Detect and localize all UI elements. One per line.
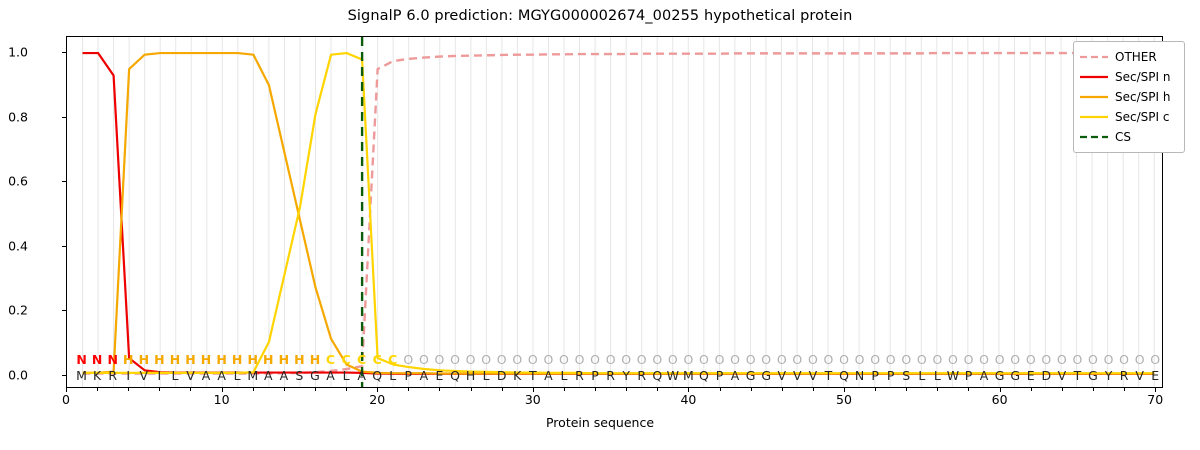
x-tick-label: 30 [503, 392, 563, 407]
sequence-letter: E [1143, 368, 1167, 384]
legend-swatch-icon [1080, 131, 1108, 143]
x-tick-mark-minor [1031, 388, 1032, 391]
x-tick-label: 70 [1125, 392, 1185, 407]
x-tick-mark-minor [97, 388, 98, 391]
x-tick-mark-minor [813, 388, 814, 391]
x-tick-mark-minor [906, 388, 907, 391]
legend-label: Sec/SPI c [1115, 110, 1169, 124]
plot-area [66, 36, 1163, 388]
cleavage-site-line [67, 37, 1162, 387]
legend-label: CS [1115, 130, 1131, 144]
x-tick-mark-minor [1062, 388, 1063, 391]
legend-swatch-icon [1080, 51, 1108, 63]
x-tick-mark-minor [626, 388, 627, 391]
legend-label: Sec/SPI n [1115, 70, 1170, 84]
legend-item-sec-spi-n[interactable]: Sec/SPI n [1080, 67, 1178, 87]
y-tick-label: 0.4 [0, 238, 28, 253]
x-tick-mark [688, 388, 689, 392]
x-tick-mark-minor [564, 388, 565, 391]
x-tick-mark-minor [751, 388, 752, 391]
x-tick-mark-minor [875, 388, 876, 391]
x-tick-mark [222, 388, 223, 392]
annotation-row: NNNHHHHHHHHHHHHHCCCCCOOOOOOOOOOOOOOOOOOO… [66, 352, 1163, 368]
x-tick-mark-minor [128, 388, 129, 391]
x-tick-label: 60 [970, 392, 1030, 407]
legend-item-other[interactable]: OTHER [1080, 47, 1178, 67]
legend-item-sec-spi-h[interactable]: Sec/SPI h [1080, 87, 1178, 107]
x-tick-mark-minor [471, 388, 472, 391]
x-tick-mark-minor [315, 388, 316, 391]
x-tick-mark [1000, 388, 1001, 392]
x-tick-mark-minor [190, 388, 191, 391]
x-tick-label: 10 [192, 392, 252, 407]
legend-swatch-icon [1080, 71, 1108, 83]
x-tick-mark-minor [657, 388, 658, 391]
x-tick-mark-minor [253, 388, 254, 391]
x-tick-mark-minor [284, 388, 285, 391]
x-tick-label: 0 [36, 392, 96, 407]
y-tick-label: 0.6 [0, 174, 28, 189]
x-tick-mark-minor [1093, 388, 1094, 391]
sequence-row: MKRIVILVAALMAASGALAQLPAEQHLDKTALRPRYRQWM… [66, 368, 1163, 384]
x-tick-mark-minor [1124, 388, 1125, 391]
x-tick-mark-minor [408, 388, 409, 391]
legend-swatch-icon [1080, 111, 1108, 123]
x-tick-mark [533, 388, 534, 392]
x-tick-mark-minor [937, 388, 938, 391]
legend-item-cs[interactable]: CS [1080, 127, 1178, 147]
x-axis-label: Protein sequence [0, 415, 1200, 430]
legend-swatch-icon [1080, 91, 1108, 103]
y-tick-label: 0.2 [0, 303, 28, 318]
x-tick-mark-minor [439, 388, 440, 391]
x-tick-label: 50 [814, 392, 874, 407]
x-tick-mark-minor [502, 388, 503, 391]
x-tick-mark [844, 388, 845, 392]
x-tick-mark-minor [159, 388, 160, 391]
legend-label: Sec/SPI h [1115, 90, 1170, 104]
legend-label: OTHER [1115, 50, 1157, 64]
x-tick-label: 40 [658, 392, 718, 407]
y-tick-label: 0.8 [0, 109, 28, 124]
signalp-prediction-figure: SignalP 6.0 prediction: MGYG000002674_00… [0, 0, 1200, 450]
chart-title: SignalP 6.0 prediction: MGYG000002674_00… [0, 8, 1200, 24]
legend-item-sec-spi-c[interactable]: Sec/SPI c [1080, 107, 1178, 127]
x-tick-mark [377, 388, 378, 392]
y-tick-label: 0.0 [0, 368, 28, 383]
x-tick-mark-minor [595, 388, 596, 391]
x-tick-mark-minor [782, 388, 783, 391]
y-tick-label: 1.0 [0, 45, 28, 60]
x-tick-mark-minor [346, 388, 347, 391]
x-tick-label: 20 [347, 392, 407, 407]
legend: OTHERSec/SPI nSec/SPI hSec/SPI cCS [1073, 41, 1185, 153]
x-tick-mark-minor [968, 388, 969, 391]
x-tick-mark [66, 388, 67, 392]
x-tick-mark-minor [720, 388, 721, 391]
annotation-letter: O [1143, 352, 1167, 368]
x-tick-mark [1155, 388, 1156, 392]
